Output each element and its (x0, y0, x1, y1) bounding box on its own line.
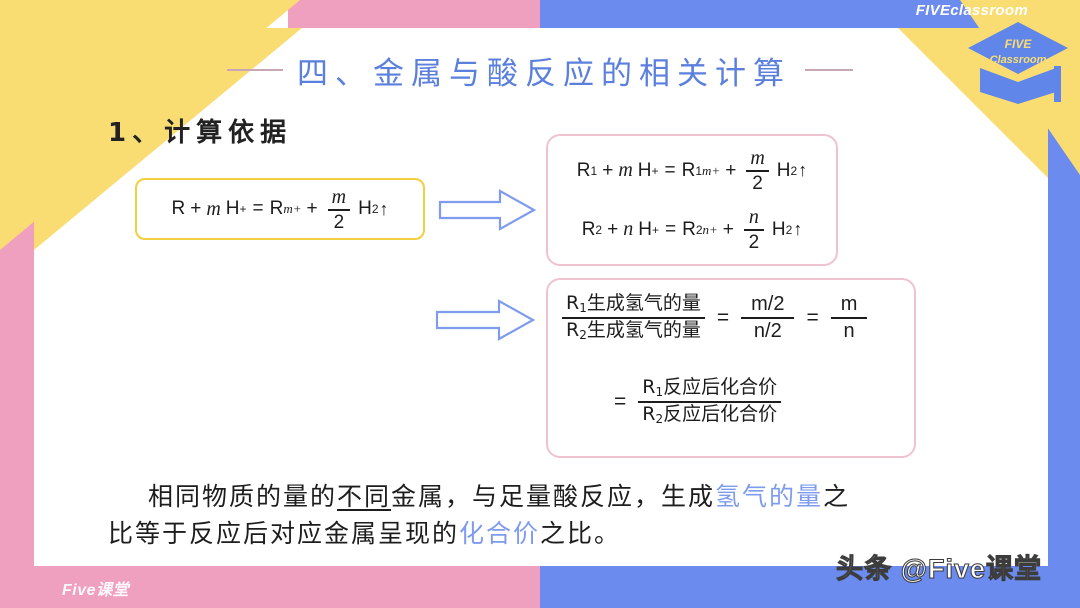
conclusion-paragraph: 相同物质的量的不同金属，与足量酸反应，生成氢气的量之比等于反应后对应金属呈现的化… (108, 478, 988, 552)
f-plus2: + (307, 198, 318, 220)
header-watermark: FIVEclassroom (916, 2, 1028, 19)
watermark-bottom-right: 头条 @Five课堂 (836, 547, 1042, 586)
page-title: 四、金属与酸反应的相关计算 (297, 48, 791, 93)
formula-box-ratio: R1生成氢气的量 R2生成氢气的量 = m/2 n/2 = m n = R1反应… (546, 278, 916, 458)
r2b-sub: 2 (696, 223, 703, 237)
f-rhs-r: R (270, 198, 284, 220)
frac-m2-den: 2 (748, 172, 767, 193)
five-classroom-logo: FIVE Classroom (964, 18, 1072, 106)
para-highlight-hydrogen: 氢气的量 (715, 482, 823, 511)
r1b-sup: m+ (702, 163, 720, 179)
vr-num-r: R (642, 376, 655, 398)
f2-den: n/2 (744, 319, 792, 344)
f-plus1: + (190, 198, 201, 220)
logo-line2: Classroom (990, 54, 1047, 66)
valence-ratio-denominator: R2反应后化合价 (638, 403, 781, 428)
vr-num-text: 反应后化合价 (663, 376, 777, 398)
arrow-up-1: ↑ (798, 160, 807, 181)
f-h-sup: + (240, 202, 247, 216)
vr-den-text: 反应后化合价 (663, 403, 777, 425)
para-seg-5: 之比。 (540, 519, 621, 548)
formula-reaction-1: R1 + m H+ = R1m+ + m 2 H2 ↑ (577, 148, 807, 193)
r1b: R (682, 160, 696, 182)
r1b-sub: 1 (695, 164, 702, 178)
plus-2: + (725, 160, 736, 182)
f-h: H (226, 198, 240, 220)
rr-den-r: R (566, 319, 579, 341)
hydrogen-ratio-numerator: R1生成氢气的量 (562, 292, 705, 317)
h2-1: H (777, 160, 791, 182)
vr-den-r: R (642, 403, 655, 425)
para-seg-4: 比等于反应后对应金属呈现的 (108, 519, 459, 548)
coef-n: n (623, 218, 633, 241)
arrow-right-2 (435, 298, 535, 347)
rr-den-sub: 2 (579, 328, 587, 342)
r1: R (577, 160, 591, 182)
formula-box-two-reactions: R1 + m H+ = R1m+ + m 2 H2 ↑ R2 + n H+ = … (546, 134, 838, 266)
hydrogen-ratio-fraction: R1生成氢气的量 R2生成氢气的量 (562, 292, 705, 344)
frac-n2: n 2 (744, 207, 764, 252)
h-2: H (638, 219, 652, 241)
f2-num: m/2 (741, 292, 794, 317)
formula-general: R + m H + = R m+ + m 2 H 2 ↑ (171, 187, 388, 232)
para-seg-2: 金属，与足量酸反应，生成 (391, 482, 715, 511)
ratio-row-hydrogen: R1生成氢气的量 R2生成氢气的量 = m/2 n/2 = m n (562, 292, 867, 344)
r2: R (582, 219, 596, 241)
slide-title-row: 四、金属与酸反应的相关计算 (200, 48, 880, 92)
r2b-sup: n+ (703, 222, 718, 238)
valence-ratio-fraction: R1反应后化合价 R2反应后化合价 (638, 376, 781, 428)
plus-1: + (602, 160, 613, 182)
ratio-equals-2: = (806, 306, 818, 330)
r2b: R (682, 219, 696, 241)
para-seg-1: 相同物质的量的 (148, 482, 337, 511)
valence-equals: = (614, 390, 626, 414)
hydrogen-ratio-denominator: R2生成氢气的量 (562, 319, 705, 344)
rr-num-r: R (566, 292, 579, 314)
h-sup-2: + (652, 223, 659, 237)
h2-2-sub: 2 (786, 223, 793, 237)
h2-2: H (772, 219, 786, 241)
ratio-fraction-m2n2: m/2 n/2 (741, 292, 794, 344)
para-underlined-different: 不同 (337, 482, 391, 511)
f3-den: n (834, 319, 865, 344)
ratio-equals-1: = (717, 306, 729, 330)
eq-2: = (665, 219, 676, 241)
watermark-bottom-left: Five课堂 (62, 576, 129, 600)
r2-sub: 2 (595, 223, 602, 237)
right-arrow-icon (438, 188, 536, 232)
plus-4: + (723, 219, 734, 241)
logo-line1: FIVE (1005, 37, 1033, 51)
graduation-cap-icon: FIVE Classroom (964, 18, 1072, 106)
h-sup-1: + (652, 164, 659, 178)
f-frac-den: 2 (330, 211, 349, 232)
rr-den-text: 生成氢气的量 (587, 319, 701, 341)
title-dash-left (227, 69, 283, 71)
f-fraction: m 2 (328, 187, 350, 232)
h2-1-sub: 2 (791, 164, 798, 178)
eq-1: = (665, 160, 676, 182)
para-seg-3: 之 (823, 482, 850, 511)
formula-reaction-2: R2 + n H+ = R2n+ + n 2 H2 ↑ (582, 207, 803, 252)
coef-m: m (618, 159, 632, 182)
frac-n2-num: n (745, 207, 763, 229)
ratio-row-valence: = R1反应后化合价 R2反应后化合价 (614, 376, 781, 428)
arrow-up-2: ↑ (793, 219, 802, 240)
f-frac-num: m (328, 187, 350, 209)
vr-num-sub: 1 (655, 385, 663, 399)
para-highlight-valence: 化合价 (459, 519, 540, 548)
f-r: R (171, 198, 185, 220)
rr-num-text: 生成氢气的量 (587, 292, 701, 314)
right-arrow-icon (435, 298, 535, 342)
f-up-arrow: ↑ (380, 199, 389, 220)
f-h2-sub: 2 (372, 202, 379, 216)
vr-den-sub: 2 (655, 412, 663, 426)
frac-n2-den: 2 (745, 231, 764, 252)
title-dash-right (805, 69, 853, 71)
f-rhs-sup: m+ (283, 201, 301, 217)
plus-3: + (607, 219, 618, 241)
arrow-right-1 (438, 188, 536, 237)
valence-ratio-numerator: R1反应后化合价 (638, 376, 781, 401)
section-heading: 1、计算依据 (108, 112, 292, 149)
rr-num-sub: 1 (579, 301, 587, 315)
f-equals: = (253, 198, 264, 220)
slide-canvas: FIVEclassroom FIVE Classroom 四、金属与酸反应的相关… (0, 0, 1080, 608)
frac-m2-num: m (746, 148, 768, 170)
f-coef: m (206, 198, 220, 221)
h-1: H (638, 160, 652, 182)
f3-num: m (831, 292, 868, 317)
f-h2: H (358, 198, 372, 220)
top-band-pink (288, 0, 540, 28)
formula-box-general: R + m H + = R m+ + m 2 H 2 ↑ (135, 178, 425, 240)
r1-sub: 1 (591, 164, 598, 178)
frac-m2: m 2 (746, 148, 768, 193)
ratio-fraction-mn: m n (831, 292, 868, 344)
